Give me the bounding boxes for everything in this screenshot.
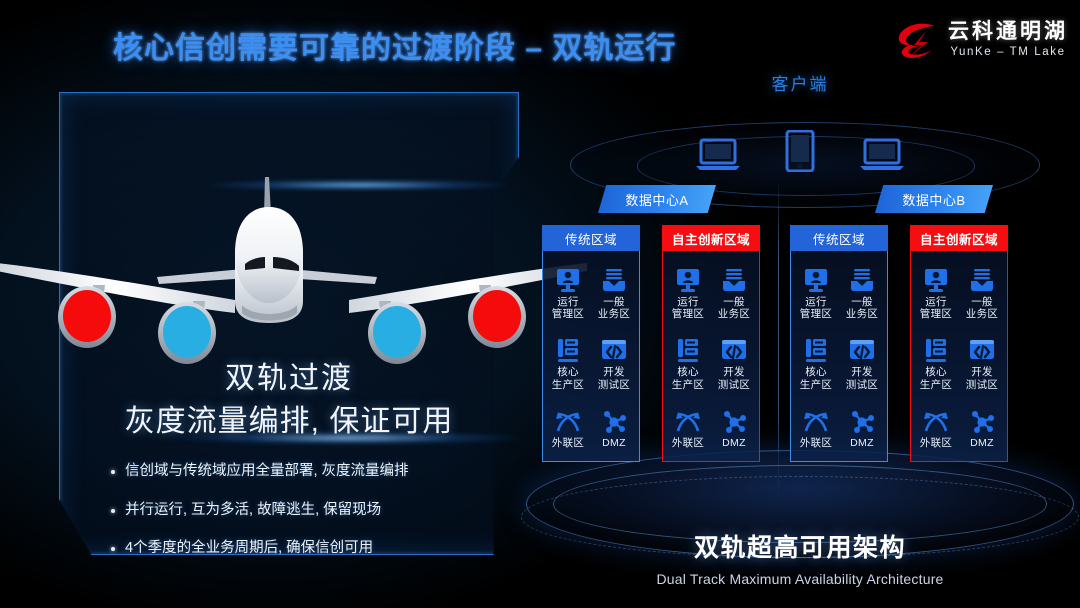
zone-label: 运行 管理区	[552, 296, 584, 321]
zone-label: 核心 生产区	[672, 366, 704, 391]
zone-column-body: 运行 管理区 一般 业务区 核心 生产区	[910, 251, 1008, 462]
zone-row: 运行 管理区 一般 业务区	[545, 265, 637, 321]
swoosh-logo-icon	[894, 17, 940, 63]
zone-label: DMZ	[850, 437, 874, 449]
zone-label: 外联区	[800, 437, 832, 449]
logo-name-cn: 云科通明湖	[948, 21, 1068, 42]
zone-cell[interactable]: 开发 测试区	[839, 335, 885, 391]
headline-line-1: 双轨过渡	[59, 360, 519, 398]
zone-label: 核心 生产区	[552, 366, 584, 391]
caption-cn: 双轨超高可用架构	[520, 528, 1080, 564]
zone-label: 一般 业务区	[598, 296, 630, 321]
zone-column-traditional-a[interactable]: 传统区域 运行 管理区 一般 业务区	[542, 225, 640, 462]
zone-label: DMZ	[722, 437, 746, 449]
zone-column-innovation-a[interactable]: 自主创新区域 运行 管理区 一般 业务区	[662, 225, 760, 462]
bullet-dot-icon	[111, 547, 115, 551]
zone-row: 外联区 DMZ	[665, 406, 757, 449]
zone-column-traditional-b[interactable]: 传统区域 运行 管理区 一般 业务区	[790, 225, 888, 462]
zone-row: 外联区 DMZ	[545, 406, 637, 449]
zone-label: 开发 测试区	[598, 366, 630, 391]
brand-logo: 云科通明湖 YunKe – TM Lake	[894, 17, 1068, 63]
banner-shape: 数据中心B	[875, 185, 993, 213]
zone-row: 核心 生产区 开发 测试区	[665, 335, 757, 391]
tablet-icon	[785, 130, 815, 177]
zone-label: 运行 管理区	[800, 296, 832, 321]
server-stack-icon	[675, 335, 701, 363]
zone-cell[interactable]: 运行 管理区	[545, 265, 591, 321]
network-nodes-icon	[721, 406, 747, 434]
zone-label: 运行 管理区	[672, 296, 704, 321]
zone-column-header: 自主创新区域	[910, 225, 1008, 251]
panel-headline: 双轨过渡 灰度流量编排, 保证可用	[59, 360, 519, 442]
zone-cell[interactable]: 外联区	[913, 406, 959, 449]
zone-cell[interactable]: 外联区	[665, 406, 711, 449]
bullet-list: 信创域与传统域应用全量部署, 灰度流量编排 并行运行, 互为多活, 故障逃生, …	[111, 462, 491, 578]
list-item: 并行运行, 互为多活, 故障逃生, 保留现场	[111, 501, 491, 521]
network-nodes-icon	[969, 406, 995, 434]
list-item: 信创域与传统域应用全量部署, 灰度流量编排	[111, 462, 491, 482]
zone-row: 外联区 DMZ	[913, 406, 1005, 449]
zone-cell[interactable]: 外联区	[793, 406, 839, 449]
zone-cell[interactable]: 核心 生产区	[545, 335, 591, 391]
network-nodes-icon	[601, 406, 627, 434]
zone-row: 外联区 DMZ	[793, 406, 885, 449]
server-stack-icon	[555, 335, 581, 363]
zone-cell[interactable]: 运行 管理区	[665, 265, 711, 321]
zone-cell[interactable]: DMZ	[839, 406, 885, 449]
client-devices	[520, 130, 1080, 177]
zone-label: 一般 业务区	[846, 296, 878, 321]
zone-row: 核心 生产区 开发 测试区	[545, 335, 637, 391]
network-nodes-icon	[849, 406, 875, 434]
user-monitor-icon	[675, 265, 701, 293]
bullet-text: 4个季度的全业务周期后, 确保信创可用	[125, 539, 373, 559]
zone-cell[interactable]: 核心 生产区	[665, 335, 711, 391]
bullet-text: 信创域与传统域应用全量部署, 灰度流量编排	[125, 462, 409, 482]
bullet-dot-icon	[111, 509, 115, 513]
inbox-tray-icon	[969, 265, 995, 293]
code-window-icon	[969, 335, 995, 363]
zone-cell[interactable]: 开发 测试区	[711, 335, 757, 391]
zone-cell[interactable]: DMZ	[959, 406, 1005, 449]
logo-name-en: YunKe – TM Lake	[950, 47, 1065, 59]
architecture-diagram: 客户端 数据中心A	[520, 60, 1080, 608]
crossing-arrows-icon	[923, 406, 949, 434]
zone-label: 外联区	[672, 437, 704, 449]
bullet-dot-icon	[111, 470, 115, 474]
airplane-front-icon	[0, 167, 587, 382]
laptop-icon	[695, 138, 741, 177]
user-monitor-icon	[803, 265, 829, 293]
zone-cell[interactable]: DMZ	[711, 406, 757, 449]
datacenter-banner-a: 数据中心A	[598, 185, 716, 213]
user-monitor-icon	[923, 265, 949, 293]
left-panel: 双轨过渡 灰度流量编排, 保证可用 信创域与传统域应用全量部署, 灰度流量编排 …	[59, 92, 519, 555]
zone-column-innovation-b[interactable]: 自主创新区域 运行 管理区 一般 业务区	[910, 225, 1008, 462]
zone-cell[interactable]: 核心 生产区	[793, 335, 839, 391]
zone-cell[interactable]: 开发 测试区	[591, 335, 637, 391]
code-window-icon	[849, 335, 875, 363]
inbox-tray-icon	[601, 265, 627, 293]
zone-cell[interactable]: 运行 管理区	[913, 265, 959, 321]
zone-row: 运行 管理区 一般 业务区	[665, 265, 757, 321]
zone-cell[interactable]: 外联区	[545, 406, 591, 449]
zone-label: 外联区	[552, 437, 584, 449]
datacenter-banner-b: 数据中心B	[875, 185, 993, 213]
zone-cell[interactable]: 开发 测试区	[959, 335, 1005, 391]
zone-label: 开发 测试区	[846, 366, 878, 391]
zone-cell[interactable]: 运行 管理区	[793, 265, 839, 321]
user-monitor-icon	[555, 265, 581, 293]
zone-label: 核心 生产区	[800, 366, 832, 391]
banner-shape: 数据中心A	[598, 185, 716, 213]
zone-label: 开发 测试区	[966, 366, 998, 391]
crossing-arrows-icon	[803, 406, 829, 434]
zone-row: 运行 管理区 一般 业务区	[913, 265, 1005, 321]
zone-column-body: 运行 管理区 一般 业务区 核心 生产区	[790, 251, 888, 462]
zone-cell[interactable]: DMZ	[591, 406, 637, 449]
zone-label: DMZ	[970, 437, 994, 449]
zone-label: 外联区	[920, 437, 952, 449]
caption-en: Dual Track Maximum Availability Architec…	[520, 571, 1080, 587]
zone-column-body: 运行 管理区 一般 业务区 核心 生产区	[662, 251, 760, 462]
zone-cell[interactable]: 一般 业务区	[711, 265, 757, 321]
zone-cell[interactable]: 核心 生产区	[913, 335, 959, 391]
code-window-icon	[601, 335, 627, 363]
headline-line-2: 灰度流量编排, 保证可用	[59, 403, 519, 441]
architecture-caption: 双轨超高可用架构 Dual Track Maximum Availability…	[520, 528, 1080, 587]
zone-label: 一般 业务区	[718, 296, 750, 321]
datacenter-label: 数据中心B	[902, 190, 965, 209]
laptop-icon	[859, 138, 905, 177]
zone-column-body: 运行 管理区 一般 业务区 核心 生产区	[542, 251, 640, 462]
zone-cell[interactable]: 一般 业务区	[839, 265, 885, 321]
inbox-tray-icon	[721, 265, 747, 293]
client-label: 客户端	[520, 70, 1080, 95]
datacenter-label: 数据中心A	[625, 190, 688, 209]
zone-label: 开发 测试区	[718, 366, 750, 391]
zone-columns: 传统区域 运行 管理区 一般 业务区	[542, 225, 1058, 462]
list-item: 4个季度的全业务周期后, 确保信创可用	[111, 539, 491, 559]
zone-row: 核心 生产区 开发 测试区	[793, 335, 885, 391]
zone-label: DMZ	[602, 437, 626, 449]
crossing-arrows-icon	[675, 406, 701, 434]
inbox-tray-icon	[849, 265, 875, 293]
server-stack-icon	[803, 335, 829, 363]
code-window-icon	[721, 335, 747, 363]
zone-row: 运行 管理区 一般 业务区	[793, 265, 885, 321]
zone-column-header: 自主创新区域	[662, 225, 760, 251]
zone-column-header: 传统区域	[790, 225, 888, 251]
zone-row: 核心 生产区 开发 测试区	[913, 335, 1005, 391]
bullet-text: 并行运行, 互为多活, 故障逃生, 保留现场	[125, 501, 381, 521]
zone-label: 运行 管理区	[920, 296, 952, 321]
zone-cell[interactable]: 一般 业务区	[591, 265, 637, 321]
zone-label: 一般 业务区	[966, 296, 998, 321]
zone-column-header: 传统区域	[542, 225, 640, 251]
zone-label: 核心 生产区	[920, 366, 952, 391]
crossing-arrows-icon	[555, 406, 581, 434]
server-stack-icon	[923, 335, 949, 363]
zone-cell[interactable]: 一般 业务区	[959, 265, 1005, 321]
